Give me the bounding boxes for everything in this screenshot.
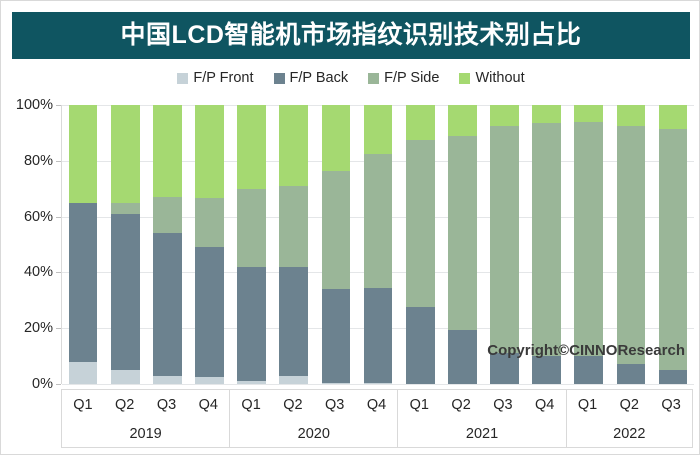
chart-title-banner: 中国LCD智能机市场指纹识别技术别占比 xyxy=(12,12,690,59)
bar-group[interactable] xyxy=(231,105,273,384)
stacked-bar[interactable] xyxy=(490,105,519,384)
bar-segment[interactable] xyxy=(490,353,519,384)
bar-segment[interactable] xyxy=(195,105,224,198)
bar-segment[interactable] xyxy=(279,376,308,384)
bar-segment[interactable] xyxy=(69,105,98,203)
bar-segment[interactable] xyxy=(617,364,646,384)
bar-segment[interactable] xyxy=(111,214,140,370)
y-axis-tick-label: 40% xyxy=(24,265,53,280)
bar-segment[interactable] xyxy=(195,198,224,247)
bar-segment[interactable] xyxy=(322,171,351,290)
bar-segment[interactable] xyxy=(659,370,688,384)
y-axis-tick-label: 80% xyxy=(24,154,53,169)
x-axis-quarter-label: Q2 xyxy=(608,398,650,413)
legend-item[interactable]: Without xyxy=(459,71,524,86)
bar-segment[interactable] xyxy=(279,105,308,186)
x-axis-quarter-label: Q3 xyxy=(146,398,188,413)
bar-segment[interactable] xyxy=(279,267,308,376)
stacked-bar[interactable] xyxy=(617,105,646,384)
stacked-bar[interactable] xyxy=(69,105,98,384)
bar-group[interactable] xyxy=(441,105,483,384)
bar-group[interactable] xyxy=(188,105,230,384)
bar-segment[interactable] xyxy=(322,289,351,382)
bar-segment[interactable] xyxy=(322,105,351,171)
legend-item-label: F/P Side xyxy=(384,71,439,86)
stacked-bar[interactable] xyxy=(279,105,308,384)
gridline xyxy=(62,384,694,385)
x-axis-quarter-label: Q3 xyxy=(314,398,356,413)
x-axis-quarter-label: Q3 xyxy=(650,398,692,413)
legend-item[interactable]: F/P Side xyxy=(368,71,439,86)
bar-segment[interactable] xyxy=(617,126,646,365)
stacked-bar[interactable] xyxy=(153,105,182,384)
x-axis-year-label: 2021 xyxy=(398,421,565,447)
bar-segment[interactable] xyxy=(574,122,603,356)
bar-segment[interactable] xyxy=(448,330,477,384)
bar-segment[interactable] xyxy=(406,140,435,307)
stacked-bar[interactable] xyxy=(237,105,266,384)
x-axis-year-group: Q1Q2Q32022 xyxy=(567,390,692,447)
bar-group[interactable] xyxy=(146,105,188,384)
bar-segment[interactable] xyxy=(659,105,688,129)
x-axis-year-group: Q1Q2Q3Q42019 xyxy=(62,390,230,447)
x-axis-quarter-label: Q1 xyxy=(62,398,104,413)
x-axis-quarter-label: Q2 xyxy=(440,398,482,413)
bar-segment[interactable] xyxy=(617,105,646,126)
x-axis-quarter-label: Q3 xyxy=(482,398,524,413)
bar-group[interactable] xyxy=(62,105,104,384)
x-axis-year-label: 2022 xyxy=(567,421,692,447)
square-swatch-icon xyxy=(368,73,379,84)
x-axis-quarter-label: Q4 xyxy=(356,398,398,413)
x-axis-quarter-label: Q2 xyxy=(272,398,314,413)
bar-group[interactable] xyxy=(399,105,441,384)
legend-item-label: Without xyxy=(475,71,524,86)
bar-segment[interactable] xyxy=(237,267,266,381)
y-axis-tick-label: 60% xyxy=(24,209,53,224)
x-axis-quarter-label: Q4 xyxy=(524,398,566,413)
stacked-bar[interactable] xyxy=(195,105,224,384)
bar-segment[interactable] xyxy=(659,129,688,370)
bar-group[interactable] xyxy=(273,105,315,384)
bar-segment[interactable] xyxy=(574,105,603,122)
x-axis-quarter-label: Q2 xyxy=(104,398,146,413)
x-axis-quarter-label: Q4 xyxy=(187,398,229,413)
bar-group[interactable] xyxy=(104,105,146,384)
bar-group[interactable] xyxy=(315,105,357,384)
stacked-bar[interactable] xyxy=(574,105,603,384)
y-axis: 0%20%40%60%80%100% xyxy=(5,96,61,384)
bar-segment[interactable] xyxy=(364,383,393,384)
x-axis-quarter-row: Q1Q2Q3Q4 xyxy=(230,390,397,421)
bar-segment[interactable] xyxy=(111,203,140,214)
bar-segment[interactable] xyxy=(574,356,603,384)
bar-group[interactable] xyxy=(652,105,694,384)
chart-legend: F/P FrontF/P BackF/P SideWithout xyxy=(1,67,700,89)
bar-group[interactable] xyxy=(610,105,652,384)
bar-segment[interactable] xyxy=(111,370,140,384)
bar-segment[interactable] xyxy=(153,376,182,384)
x-axis-year-label: 2020 xyxy=(230,421,397,447)
stacked-bar[interactable] xyxy=(406,105,435,384)
stacked-bar[interactable] xyxy=(532,105,561,384)
legend-item-label: F/P Back xyxy=(290,71,349,86)
bar-segment[interactable] xyxy=(490,105,519,126)
bar-series-container xyxy=(62,105,694,384)
bar-group[interactable] xyxy=(526,105,568,384)
legend-item-label: F/P Front xyxy=(193,71,253,86)
bar-segment[interactable] xyxy=(532,356,561,384)
x-axis: Q1Q2Q3Q42019Q1Q2Q3Q42020Q1Q2Q3Q42021Q1Q2… xyxy=(61,389,693,448)
bar-segment[interactable] xyxy=(406,307,435,384)
bar-segment[interactable] xyxy=(322,383,351,384)
square-swatch-icon xyxy=(274,73,285,84)
legend-item[interactable]: F/P Front xyxy=(177,71,253,86)
square-swatch-icon xyxy=(459,73,470,84)
bar-segment[interactable] xyxy=(237,105,266,189)
x-axis-year-group: Q1Q2Q3Q42020 xyxy=(230,390,398,447)
x-axis-year-group: Q1Q2Q3Q42021 xyxy=(398,390,566,447)
x-axis-year-label: 2019 xyxy=(62,421,229,447)
x-axis-quarter-row: Q1Q2Q3Q4 xyxy=(398,390,565,421)
bar-segment[interactable] xyxy=(195,377,224,384)
bar-segment[interactable] xyxy=(237,381,266,384)
bar-segment[interactable] xyxy=(490,126,519,353)
stacked-bar[interactable] xyxy=(364,105,393,384)
bar-segment[interactable] xyxy=(237,189,266,267)
bar-group[interactable] xyxy=(357,105,399,384)
stacked-bar[interactable] xyxy=(448,105,477,384)
legend-item[interactable]: F/P Back xyxy=(274,71,349,86)
bar-group[interactable] xyxy=(483,105,525,384)
stacked-bar[interactable] xyxy=(111,105,140,384)
bar-segment[interactable] xyxy=(111,105,140,203)
y-axis-tick-label: 0% xyxy=(32,377,53,392)
chart-figure: 中国LCD智能机市场指纹识别技术别占比 F/P FrontF/P BackF/P… xyxy=(0,0,700,455)
bar-group[interactable] xyxy=(568,105,610,384)
page-title: 中国LCD智能机市场指纹识别技术别占比 xyxy=(121,23,582,48)
bar-segment[interactable] xyxy=(195,247,224,377)
stacked-bar[interactable] xyxy=(322,105,351,384)
bar-segment[interactable] xyxy=(448,105,477,136)
bar-segment[interactable] xyxy=(69,362,98,384)
x-axis-quarter-label: Q1 xyxy=(567,398,609,413)
bar-segment[interactable] xyxy=(153,197,182,233)
bar-segment[interactable] xyxy=(532,105,561,123)
stacked-bar[interactable] xyxy=(659,105,688,384)
x-axis-quarter-label: Q1 xyxy=(398,398,440,413)
bar-segment[interactable] xyxy=(532,123,561,356)
y-axis-tick-label: 20% xyxy=(24,321,53,336)
x-axis-quarter-row: Q1Q2Q3Q4 xyxy=(62,390,229,421)
bar-segment[interactable] xyxy=(364,105,393,154)
bar-segment[interactable] xyxy=(448,136,477,330)
plot-wrapper: 0%20%40%60%80%100% xyxy=(1,96,700,396)
bar-segment[interactable] xyxy=(279,186,308,267)
bar-segment[interactable] xyxy=(153,105,182,197)
y-axis-tick-label: 100% xyxy=(16,98,53,113)
x-axis-quarter-row: Q1Q2Q3 xyxy=(567,390,692,421)
bar-segment[interactable] xyxy=(364,154,393,288)
bar-segment[interactable] xyxy=(153,233,182,375)
square-swatch-icon xyxy=(177,73,188,84)
bar-segment[interactable] xyxy=(69,203,98,362)
bar-segment[interactable] xyxy=(406,105,435,140)
plot-area xyxy=(61,105,694,384)
y-axis-tick-mark xyxy=(56,384,61,385)
bar-segment[interactable] xyxy=(364,288,393,383)
x-axis-quarter-label: Q1 xyxy=(230,398,272,413)
